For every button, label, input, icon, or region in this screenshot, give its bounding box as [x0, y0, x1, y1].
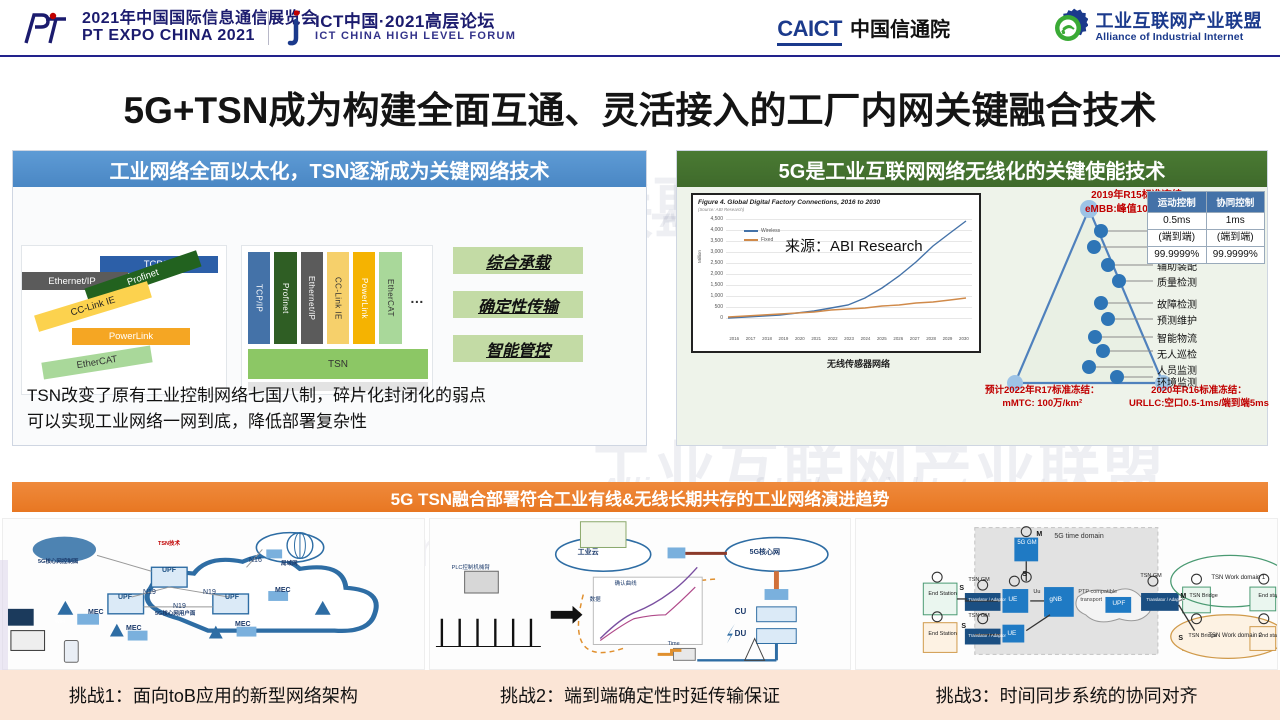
- xtick: 2027: [906, 336, 922, 341]
- legend-label: Fixed: [761, 237, 773, 243]
- label-slave-1: S: [1022, 571, 1027, 578]
- chart-source-overlay: 来源：ABI Research: [785, 235, 923, 256]
- ytick: 4,000: [704, 227, 723, 233]
- usecase-unmanned-inspection: 无人巡检: [1157, 346, 1197, 361]
- label-tsn-gm-2: TSN GM: [968, 613, 989, 619]
- table-cell: 99.9999%: [1148, 247, 1207, 264]
- xtick: 2016: [726, 336, 742, 341]
- aii-en-text: Alliance of Industrial Internet: [1096, 32, 1263, 44]
- usecase-smart-logistics: 智能物流: [1157, 330, 1197, 345]
- table-cell: 1ms: [1206, 213, 1265, 230]
- label-end-station-2: End Station: [928, 631, 956, 637]
- ytick: 500: [704, 304, 723, 310]
- label-ptp-2: transport: [1080, 597, 1102, 603]
- r16-line-2: URLLC:空口0.5-1ms/端到端5ms: [1129, 398, 1269, 411]
- ict-forum-text: ICT中国·2021高层论坛 ICT CHINA HIGH LEVEL FORU…: [315, 13, 516, 43]
- capability-integrated-bearing: 综合承载: [453, 247, 583, 274]
- label-5g-core-cp: 5G核心网控制面: [38, 557, 78, 565]
- slide-title: 5G+TSN成为构建全面互通、灵活接入的工厂内网关键融合技术: [0, 80, 1280, 134]
- label-wifi: WiFi: [55, 619, 65, 625]
- note-line-2: 可以实现工业网络一网到底，降低部署复杂性: [27, 409, 486, 435]
- column-label: PowerLink: [360, 278, 369, 319]
- table-row: 0.5ms 1ms: [1148, 213, 1265, 230]
- challenges-footer: 挑战1：面向toB应用的新型网络架构 挑战2：端到端确定性时延传输保证 挑战3：…: [0, 670, 1280, 720]
- label-5g-gm: 5G GM: [1017, 540, 1036, 546]
- left-panel-note: TSN改变了原有工业控制网络七国八制，碎片化封闭化的弱点 可以实现工业网络一网到…: [27, 383, 486, 434]
- chart-ylabel: Million: [697, 250, 702, 263]
- ytick: 2,000: [704, 271, 723, 277]
- label-cu: CU: [735, 607, 747, 616]
- ytick: 3,500: [704, 238, 723, 244]
- left-panel: 工业网络全面以太化，TSN逐渐成为关键网络技术 TCP/IP Ethernet/…: [12, 150, 647, 446]
- table-row: (端到端) (端到端): [1148, 230, 1265, 247]
- diagram-deterministic-latency: 工业云 5G核心网 CU DU PLC控制机械臂 确认曲线 数据 Time: [429, 518, 852, 670]
- left-edge-decoration: [0, 560, 8, 670]
- label-end-station-4: End station: [1258, 633, 1278, 639]
- ytick: 0: [704, 315, 723, 321]
- pt-expo-en: PT EXPO CHINA 2021: [82, 28, 318, 45]
- table-header-motion-control: 运动控制: [1148, 192, 1207, 213]
- label-end-station-3: End station: [1258, 593, 1278, 599]
- aii-text: 工业互联网产业联盟 Alliance of Industrial Interne…: [1096, 12, 1263, 43]
- table-cell: 99.9999%: [1206, 247, 1265, 264]
- usecase-quality-inspection: 质量检测: [1157, 274, 1197, 289]
- label-tsn-gm-1: TSN GM: [968, 577, 989, 583]
- legend-swatch: [744, 230, 758, 232]
- label-tsn-gm-3: TSN GM: [1140, 573, 1161, 579]
- gear-icon: [1048, 8, 1088, 48]
- label-master-1: M: [1036, 531, 1042, 538]
- xtick: 2029: [939, 336, 955, 341]
- label-work-domain-2: TSN Work domain 2: [1208, 633, 1262, 639]
- legend-swatch: [744, 239, 758, 241]
- tsn-converged-stack-diagram: TCP/IP Profinet Ethernet/IP CC-Link IE P…: [241, 245, 433, 395]
- label-ue-2: UE: [1007, 630, 1016, 637]
- label-mec-2: MEC: [126, 625, 142, 632]
- xtick: 2026: [890, 336, 906, 341]
- diagram-5g-tsn-architecture: TSN技术 5G核心网控制面 5G核心网用户面 局域网 UPF UPF UPF …: [2, 518, 425, 670]
- column-label: CC-Link IE: [333, 277, 342, 320]
- label-slave-4: S: [1178, 635, 1183, 642]
- ytick: 3,000: [704, 249, 723, 255]
- tag-ethercat: EtherCAT: [41, 346, 152, 380]
- usecase-fault-detection: 故障检测: [1157, 296, 1197, 311]
- label-5g-core-up: 5G核心网用户面: [155, 609, 195, 617]
- bottom-diagrams: TSN技术 5G核心网控制面 5G核心网用户面 局域网 UPF UPF UPF …: [0, 518, 1280, 670]
- label-upf-2: UPF: [118, 594, 132, 601]
- r17-line-2: mMTC: 100万/km²: [985, 398, 1100, 411]
- annotation-r17: 预计2022年R17标准冻结： mMTC: 100万/km²: [985, 385, 1100, 411]
- label-du: DU: [735, 629, 747, 638]
- challenge-2: 挑战2：端到端确定性时延传输保证: [427, 682, 854, 708]
- left-panel-header: 工业网络全面以太化，TSN逐渐成为关键网络技术: [13, 151, 646, 187]
- page-header: 2021年中国国际信息通信展览会 PT EXPO CHINA 2021 ICT中…: [0, 0, 1280, 57]
- label-lan: 局域网: [281, 559, 298, 567]
- label-upf: UPF: [1112, 600, 1125, 607]
- label-industrial-cloud: 工业云: [578, 547, 599, 557]
- table-cell: 0.5ms: [1148, 213, 1207, 230]
- xtick: 2020: [792, 336, 808, 341]
- pt-expo-cn: 2021年中国国际信息通信展览会: [82, 11, 318, 28]
- xtick: 2024: [857, 336, 873, 341]
- chart-legend: Wireless Fixed: [744, 228, 780, 246]
- xtick: 2030: [956, 336, 972, 341]
- chart-subtitle: (Source: ABI Research): [698, 207, 974, 212]
- label-time-axis: Time: [668, 641, 680, 647]
- r17-line-1: 预计2022年R17标准冻结：: [985, 385, 1100, 398]
- xtick: 2019: [775, 336, 791, 341]
- caict-cn-text: 中国信通院: [850, 13, 950, 42]
- tsn-layer: TSN: [248, 349, 428, 379]
- label-end-station-1: End Station: [928, 591, 956, 597]
- label-mec-3: MEC: [235, 621, 251, 628]
- convergence-banner: 5G TSN融合部署符合工业有线&无线长期共存的工业网络演进趋势: [12, 482, 1268, 512]
- logo-caict: CAICT 中国信通院: [777, 13, 950, 46]
- xtick: 2022: [824, 336, 840, 341]
- right-panel-header: 5G是工业互联网网络无线化的关键使能技术: [677, 151, 1267, 187]
- label-slave-3: S: [961, 623, 966, 630]
- ytick: 1,500: [704, 282, 723, 288]
- column-label: TCP/IP: [255, 284, 264, 312]
- ytick: 4,500: [704, 216, 723, 222]
- column-label: EtherCAT: [386, 279, 395, 317]
- pt-expo-text: 2021年中国国际信息通信展览会 PT EXPO CHINA 2021: [82, 11, 318, 45]
- label-translator-2: Translator / Adaptor: [968, 633, 1006, 638]
- chart-title: Figure 4. Global Digital Factory Connect…: [698, 199, 974, 206]
- label-n19-1: N19: [143, 589, 156, 596]
- label-data-axis: 数据: [590, 595, 601, 603]
- label-mec-4: MEC: [275, 587, 291, 594]
- table-row: 99.9999% 99.9999%: [1148, 247, 1265, 264]
- label-n16: N16: [249, 557, 262, 564]
- label-5g-time-domain: 5G time domain: [1054, 533, 1103, 540]
- label-translator-1: Translator / Adaptor: [968, 597, 1006, 602]
- xtick: 2028: [923, 336, 939, 341]
- aii-cn-text: 工业互联网产业联盟: [1096, 12, 1263, 32]
- label-upf-1: UPF: [162, 567, 176, 574]
- right-panel: 5G是工业互联网网络无线化的关键使能技术 Figure 4. Global Di…: [676, 150, 1268, 446]
- 5g-capability-triangle: 2019年R15标准冻结 eMBB:峰值10-20Gbps 远程操控 设备协同 …: [977, 187, 1269, 445]
- wireless-sensor-network-label: 无线传感器网络: [827, 357, 890, 370]
- column-cclink: CC-Link IE: [327, 252, 349, 344]
- ict-forum-en: ICT CHINA HIGH LEVEL FORUM: [315, 31, 516, 43]
- label-uu: Uu: [1033, 589, 1040, 595]
- ict-mark-icon: [285, 8, 307, 48]
- column-label: Ethernet/IP: [307, 276, 316, 320]
- label-5g-core: 5G核心网: [750, 547, 780, 557]
- ytick: 1,000: [704, 293, 723, 299]
- label-n19-2: N19: [203, 589, 216, 596]
- tag-powerlink: PowerLink: [72, 328, 190, 345]
- header-divider: [268, 11, 269, 45]
- xtick: 2025: [874, 336, 890, 341]
- table-header-coordinated-control: 协同控制: [1206, 192, 1265, 213]
- capability-deterministic-transmission: 确定性传输: [453, 291, 583, 318]
- fragmented-protocols-diagram: TCP/IP Ethernet/IP Profinet CC-Link IE P…: [21, 245, 227, 395]
- tsn-capabilities: 综合承载 确定性传输 智能管控: [453, 247, 583, 379]
- ytick: 2,500: [704, 260, 723, 266]
- column-tcpip: TCP/IP: [248, 252, 270, 344]
- table-header-row: 运动控制 协同控制: [1148, 192, 1265, 213]
- label-confirm-curve: 确认曲线: [615, 579, 637, 587]
- label-ue-1: UE: [1008, 596, 1017, 603]
- label-translator-3: Translator / Adaptor: [1146, 597, 1184, 602]
- label-mec-1: MEC: [88, 609, 104, 616]
- ict-forum-cn: ICT中国·2021高层论坛: [315, 13, 516, 31]
- label-work-domain-1: TSN Work domain 1: [1211, 575, 1265, 581]
- table-cell: (端到端): [1148, 230, 1207, 247]
- protocol-columns: TCP/IP Profinet Ethernet/IP CC-Link IE P…: [248, 252, 428, 344]
- label-tsn-bridge-1: TSN Bridge: [1189, 593, 1217, 599]
- xtick: 2021: [808, 336, 824, 341]
- column-ethercat: EtherCAT: [379, 252, 401, 344]
- pt-expo-icon: [20, 9, 72, 47]
- r16-line-1: 2020年R16标准冻结：: [1129, 385, 1269, 398]
- label-ptp-1: PTP compatible: [1078, 589, 1117, 595]
- annotation-r16: 2020年R16标准冻结： URLLC:空口0.5-1ms/端到端5ms: [1129, 385, 1269, 411]
- caict-mark-text: CAICT: [777, 16, 842, 46]
- legend-entry-wireless: Wireless: [744, 228, 780, 234]
- table-cell: (端到端): [1206, 230, 1265, 247]
- right-panel-body: Figure 4. Global Digital Factory Connect…: [677, 187, 1267, 445]
- label-gnb: gNB: [1049, 596, 1062, 603]
- usecase-predictive-maintenance: 预测维护: [1157, 312, 1197, 327]
- xtick: 2017: [742, 336, 758, 341]
- column-profinet: Profinet: [274, 252, 296, 344]
- logo-ict-forum: ICT中国·2021高层论坛 ICT CHINA HIGH LEVEL FORU…: [285, 8, 516, 48]
- label-n19-3: N19: [173, 603, 186, 610]
- challenge-3: 挑战3：时间同步系统的协同对齐: [853, 682, 1280, 708]
- label-plc-robot: PLC控制机械臂: [452, 563, 490, 571]
- note-line-1: TSN改变了原有工业控制网络七国八制，碎片化封闭化的弱点: [27, 383, 486, 409]
- column-powerlink: PowerLink: [353, 252, 375, 344]
- abi-connections-chart: Figure 4. Global Digital Factory Connect…: [691, 193, 981, 353]
- challenge-1: 挑战1：面向toB应用的新型网络架构: [0, 682, 427, 708]
- capability-intelligent-management: 智能管控: [453, 335, 583, 362]
- left-panel-body: TCP/IP Ethernet/IP Profinet CC-Link IE P…: [13, 187, 646, 359]
- label-upf-3: UPF: [225, 594, 239, 601]
- xtick: 2018: [759, 336, 775, 341]
- chart-xticks: 2016 2017 2018 2019 2020 2021 2022 2023 …: [726, 336, 972, 341]
- logo-aii: 工业互联网产业联盟 Alliance of Industrial Interne…: [1048, 8, 1263, 48]
- column-ellipsis: …: [406, 252, 428, 344]
- label-slave-2: S: [959, 585, 964, 592]
- latency-graphic: [430, 519, 851, 669]
- latency-reliability-table: 运动控制 协同控制 0.5ms 1ms (端到端) (端到端) 99.9999%…: [1147, 191, 1265, 264]
- legend-label: Wireless: [761, 228, 780, 234]
- legend-entry-fixed: Fixed: [744, 237, 780, 243]
- label-tsn-tech: TSN技术: [158, 539, 180, 547]
- column-label: Profinet: [281, 283, 290, 314]
- label-master-2: M: [1180, 593, 1186, 600]
- logo-pt-expo: 2021年中国国际信息通信展览会 PT EXPO CHINA 2021: [20, 9, 318, 47]
- xtick: 2023: [841, 336, 857, 341]
- diagram-time-sync: 5G time domain 5G GM gNB UE UE UPF Uu PT…: [855, 518, 1278, 670]
- chart-plot-area: Million 4,500 4,000 3,500 3,000 2,500 2,…: [698, 216, 974, 332]
- column-ethernetip: Ethernet/IP: [301, 252, 323, 344]
